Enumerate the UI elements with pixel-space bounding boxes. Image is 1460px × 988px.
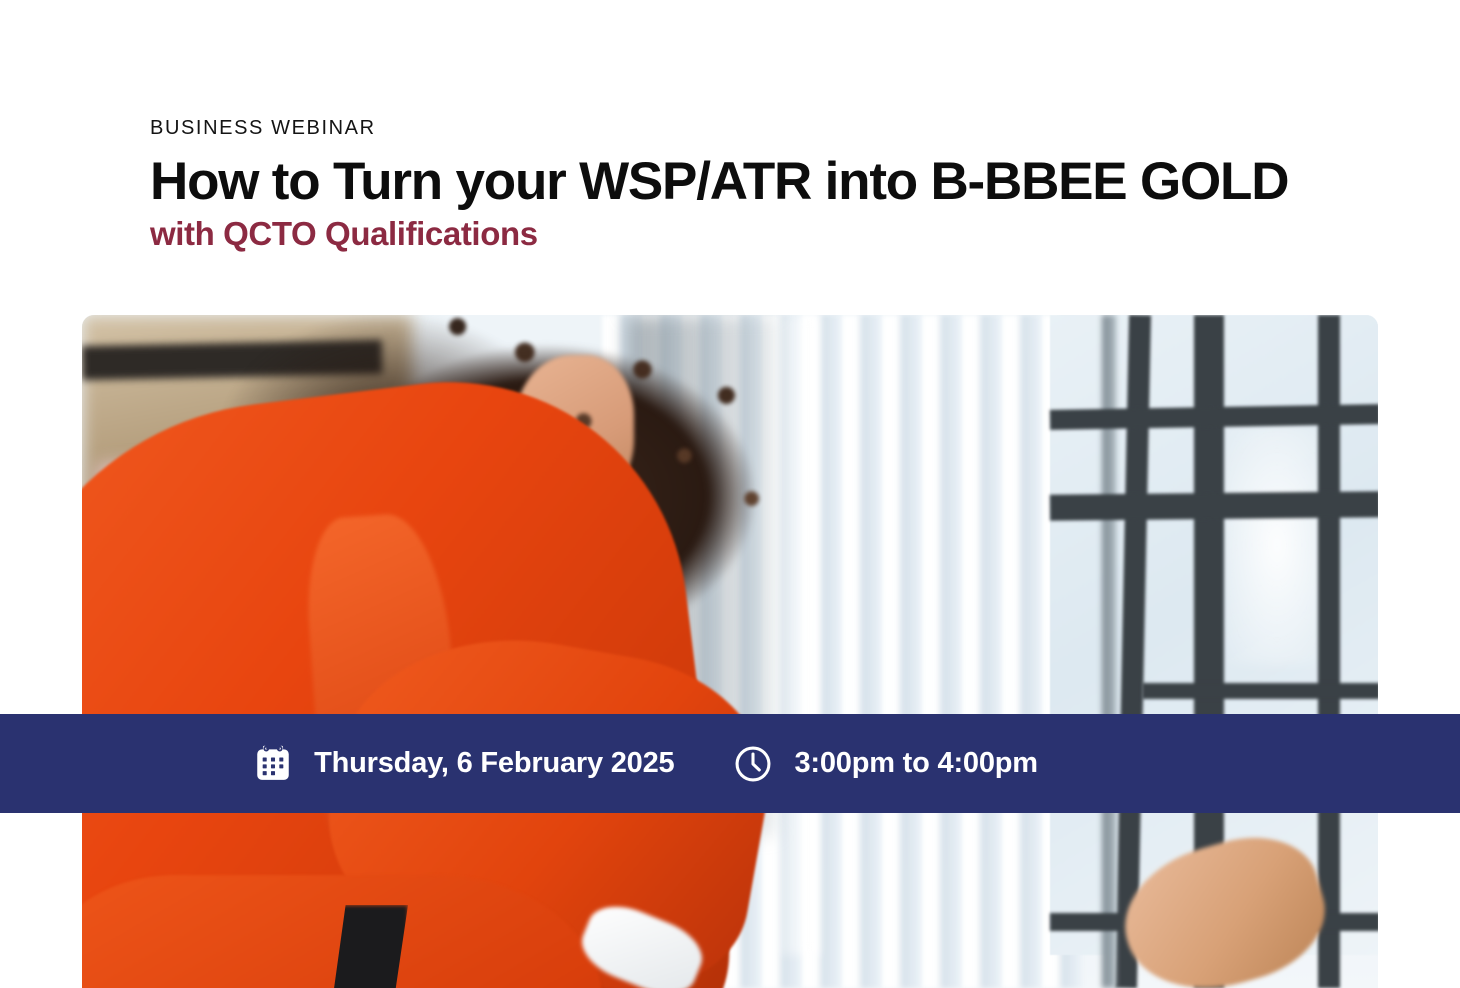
eyebrow-label: BUSINESS WEBINAR (150, 118, 1390, 138)
event-time: 3:00pm to 4:00pm (794, 749, 1037, 778)
window-mullion (1142, 683, 1378, 699)
hero-image (82, 315, 1378, 988)
event-details-inner: Thursday, 6 February 2025 3:00pm to 4:00… (252, 743, 1038, 785)
window-glow (1222, 425, 1332, 665)
page-title: How to Turn your WSP/ATR into B-BBEE GOL… (150, 154, 1390, 209)
clock-icon (732, 743, 774, 785)
page-subtitle: with QCTO Qualifications (150, 217, 1390, 252)
window-mullion (1050, 491, 1378, 520)
hero-image-scene (82, 315, 1378, 988)
event-date: Thursday, 6 February 2025 (314, 749, 674, 778)
event-date-group: Thursday, 6 February 2025 (252, 743, 674, 785)
webinar-promo-page: BUSINESS WEBINAR How to Turn your WSP/AT… (0, 0, 1460, 988)
event-time-group: 3:00pm to 4:00pm (732, 743, 1037, 785)
header-text-block: BUSINESS WEBINAR How to Turn your WSP/AT… (150, 118, 1390, 252)
calendar-icon (252, 743, 294, 785)
event-details-banner: Thursday, 6 February 2025 3:00pm to 4:00… (0, 714, 1460, 813)
